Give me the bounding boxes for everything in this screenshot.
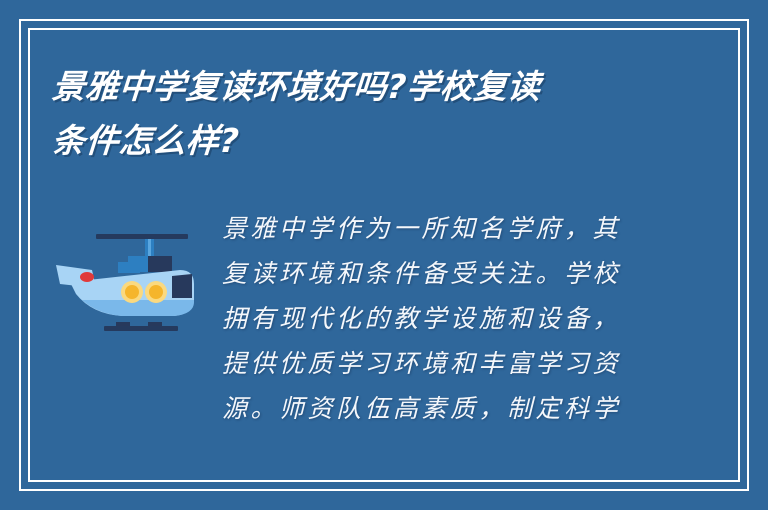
engine-housing-front <box>118 262 140 273</box>
rotor-mast-highlight <box>148 239 151 256</box>
body-text: 景雅中学作为一所知名学府，其 复读环境和条件备受关注。学校 拥有现代化的教学设施… <box>222 206 672 496</box>
body-line-4: 提供优质学习环境和丰富学习资 <box>222 341 672 386</box>
window-right <box>149 285 163 299</box>
cockpit-window <box>172 274 192 298</box>
helicopter-icon <box>52 222 202 332</box>
landing-skid <box>104 326 178 331</box>
window-left <box>125 285 139 299</box>
body-line-5: 源。师资队伍高素质，制定科学 <box>222 386 672 431</box>
helicopter-illustration <box>52 222 202 332</box>
engine-housing-dark <box>148 256 172 272</box>
body-line-3: 拥有现代化的教学设施和设备， <box>222 296 672 341</box>
nose-light <box>80 272 94 282</box>
rotor-blade <box>96 234 188 239</box>
title-line-2: 条件怎么样? <box>50 114 714 168</box>
body-line-2: 复读环境和条件备受关注。学校 <box>222 251 672 296</box>
poster-canvas: 景雅中学复读环境好吗?学校复读 条件怎么样? <box>0 0 768 510</box>
page-title: 景雅中学复读环境好吗?学校复读 条件怎么样? <box>52 60 712 168</box>
title-line-1: 景雅中学复读环境好吗?学校复读 <box>50 60 714 114</box>
body-line-1: 景雅中学作为一所知名学府，其 <box>222 206 672 251</box>
fuselage-shadow <box>82 300 194 316</box>
